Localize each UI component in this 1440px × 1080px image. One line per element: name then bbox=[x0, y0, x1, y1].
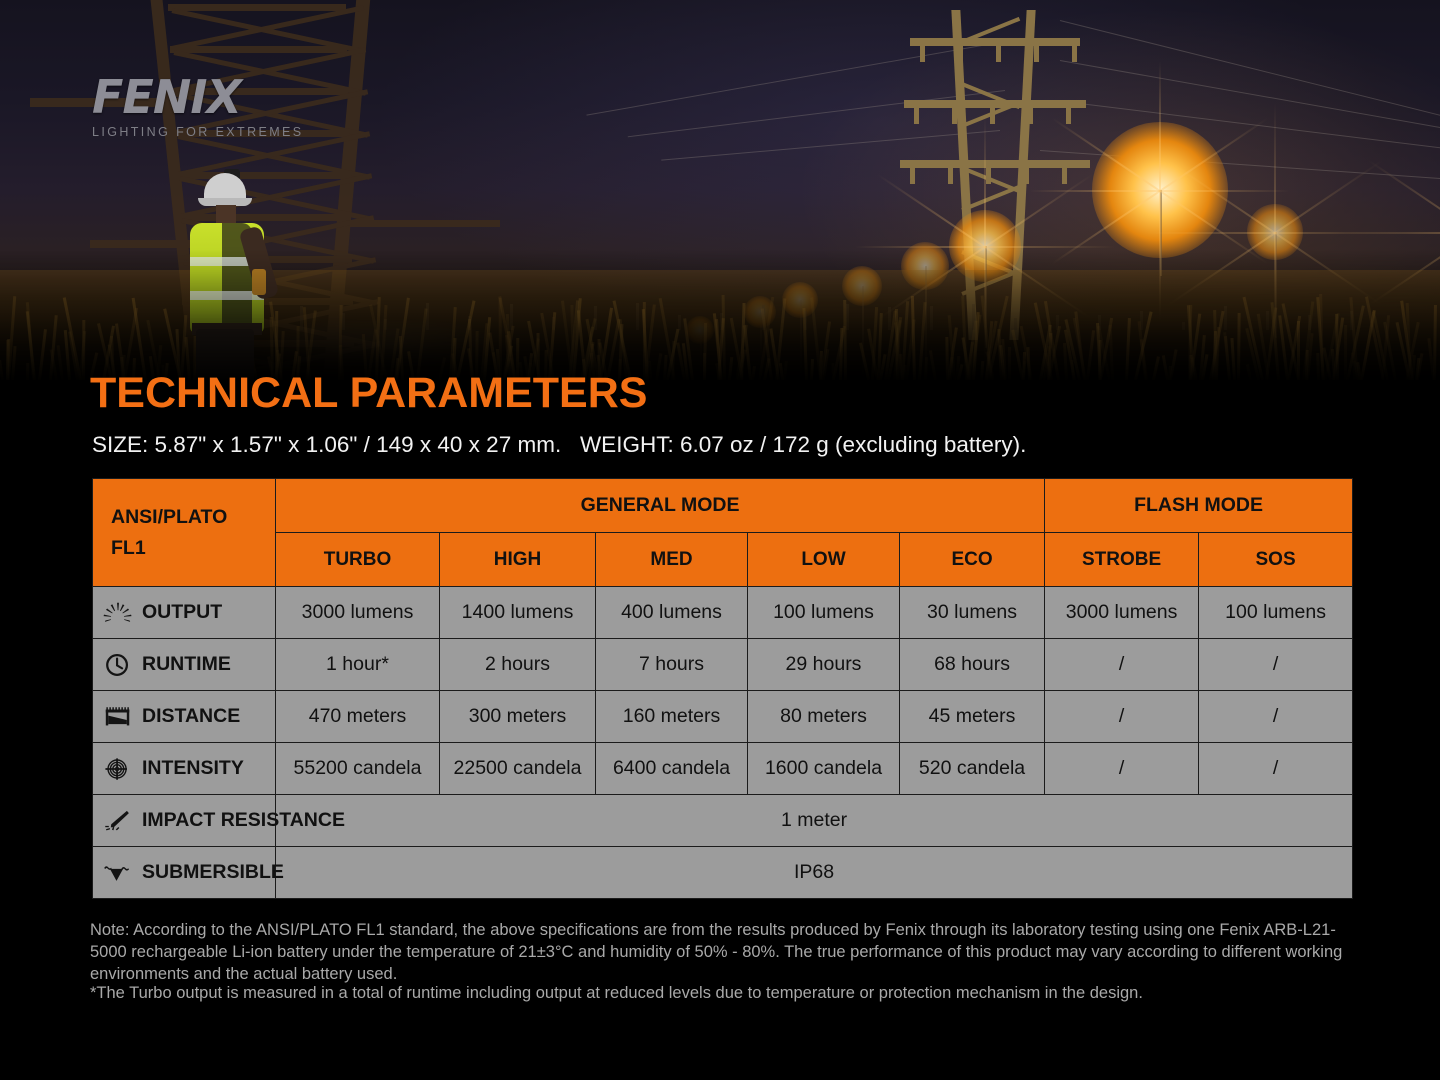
table-cell-runtime-sos: / bbox=[1199, 639, 1353, 691]
ruler-icon bbox=[103, 704, 133, 730]
table-cell-intensity-turbo: 55200 candela bbox=[276, 743, 440, 795]
standard-note: Note: According to the ANSI/PLATO FL1 st… bbox=[90, 920, 1358, 985]
table-cell-output-low: 100 lumens bbox=[748, 587, 900, 639]
row-label-text: IMPACT RESISTANCE bbox=[142, 809, 345, 832]
technical-parameters-table: ANSI/PLATOFL1GENERAL MODEFLASH MODETURBO… bbox=[92, 478, 1353, 899]
table-row-label-intensity: INTENSITY bbox=[93, 743, 276, 795]
table-group-header-general-mode: GENERAL MODE bbox=[276, 479, 1045, 533]
table-row-label-distance: DISTANCE bbox=[93, 691, 276, 743]
table-row-label-impact-resistance: IMPACT RESISTANCE bbox=[93, 795, 276, 847]
target-icon bbox=[103, 756, 133, 782]
table-column-header-med: MED bbox=[596, 533, 748, 587]
table-cell-impact-resistance-value: 1 meter bbox=[276, 795, 1353, 847]
technical-parameters-table-wrap: ANSI/PLATOFL1GENERAL MODEFLASH MODETURBO… bbox=[92, 478, 1352, 899]
page-content: TECHNICAL PARAMETERS SIZE: 5.87" x 1.57"… bbox=[0, 0, 1440, 1080]
table-row-label-runtime: RUNTIME bbox=[93, 639, 276, 691]
ansi-label-line1: ANSI/PLATO bbox=[111, 502, 275, 532]
table-column-header-low: LOW bbox=[748, 533, 900, 587]
table-cell-intensity-low: 1600 candela bbox=[748, 743, 900, 795]
table-cell-intensity-sos: / bbox=[1199, 743, 1353, 795]
row-label-text: SUBMERSIBLE bbox=[142, 861, 284, 884]
table-cell-intensity-strobe: / bbox=[1045, 743, 1199, 795]
table-column-header-high: HIGH bbox=[440, 533, 596, 587]
row-label-text: RUNTIME bbox=[142, 653, 231, 676]
ansi-plato-fl1-corner-cell: ANSI/PLATOFL1 bbox=[93, 479, 276, 587]
table-cell-runtime-eco: 68 hours bbox=[900, 639, 1045, 691]
table-cell-intensity-med: 6400 candela bbox=[596, 743, 748, 795]
turbo-footnote: *The Turbo output is measured in a total… bbox=[90, 983, 1358, 1005]
ansi-label-line2: FL1 bbox=[111, 533, 275, 563]
table-cell-output-eco: 30 lumens bbox=[900, 587, 1045, 639]
sunburst-icon bbox=[103, 600, 133, 626]
table-column-header-strobe: STROBE bbox=[1045, 533, 1199, 587]
row-label-text: INTENSITY bbox=[142, 757, 244, 780]
table-cell-distance-med: 160 meters bbox=[596, 691, 748, 743]
table-cell-distance-strobe: / bbox=[1045, 691, 1199, 743]
impact-icon bbox=[103, 808, 133, 834]
table-row-label-submersible: SUBMERSIBLE bbox=[93, 847, 276, 899]
table-cell-runtime-low: 29 hours bbox=[748, 639, 900, 691]
table-cell-output-med: 400 lumens bbox=[596, 587, 748, 639]
table-column-header-turbo: TURBO bbox=[276, 533, 440, 587]
table-cell-output-strobe: 3000 lumens bbox=[1045, 587, 1199, 639]
table-row: DISTANCE470 meters300 meters160 meters80… bbox=[93, 691, 1353, 743]
table-cell-runtime-strobe: / bbox=[1045, 639, 1199, 691]
table-group-header-flash-mode: FLASH MODE bbox=[1045, 479, 1353, 533]
size-weight-spec-line: SIZE: 5.87" x 1.57" x 1.06" / 149 x 40 x… bbox=[92, 432, 1026, 458]
table-cell-intensity-high: 22500 candela bbox=[440, 743, 596, 795]
table-mode-header-row: TURBOHIGHMEDLOWECOSTROBESOS bbox=[93, 533, 1353, 587]
table-row-label-output: OUTPUT bbox=[93, 587, 276, 639]
table-cell-distance-turbo: 470 meters bbox=[276, 691, 440, 743]
page-title: TECHNICAL PARAMETERS bbox=[90, 372, 647, 415]
table-cell-output-sos: 100 lumens bbox=[1199, 587, 1353, 639]
table-cell-output-high: 1400 lumens bbox=[440, 587, 596, 639]
table-cell-runtime-med: 7 hours bbox=[596, 639, 748, 691]
table-cell-output-turbo: 3000 lumens bbox=[276, 587, 440, 639]
table-cell-distance-low: 80 meters bbox=[748, 691, 900, 743]
clock-icon bbox=[103, 652, 133, 678]
table-column-header-eco: ECO bbox=[900, 533, 1045, 587]
table-group-header-row: ANSI/PLATOFL1GENERAL MODEFLASH MODE bbox=[93, 479, 1353, 533]
table-cell-runtime-high: 2 hours bbox=[440, 639, 596, 691]
row-label-text: OUTPUT bbox=[142, 601, 222, 624]
table-row: OUTPUT3000 lumens1400 lumens400 lumens10… bbox=[93, 587, 1353, 639]
table-cell-runtime-turbo: 1 hour* bbox=[276, 639, 440, 691]
table-row: IMPACT RESISTANCE1 meter bbox=[93, 795, 1353, 847]
table-cell-intensity-eco: 520 candela bbox=[900, 743, 1045, 795]
table-column-header-sos: SOS bbox=[1199, 533, 1353, 587]
row-label-text: DISTANCE bbox=[142, 705, 240, 728]
table-row: SUBMERSIBLEIP68 bbox=[93, 847, 1353, 899]
table-cell-distance-sos: / bbox=[1199, 691, 1353, 743]
table-cell-distance-high: 300 meters bbox=[440, 691, 596, 743]
table-row: RUNTIME1 hour*2 hours7 hours29 hours68 h… bbox=[93, 639, 1353, 691]
table-cell-distance-eco: 45 meters bbox=[900, 691, 1045, 743]
water-drop-icon bbox=[103, 860, 133, 886]
table-row: INTENSITY55200 candela22500 candela6400 … bbox=[93, 743, 1353, 795]
table-cell-submersible-value: IP68 bbox=[276, 847, 1353, 899]
